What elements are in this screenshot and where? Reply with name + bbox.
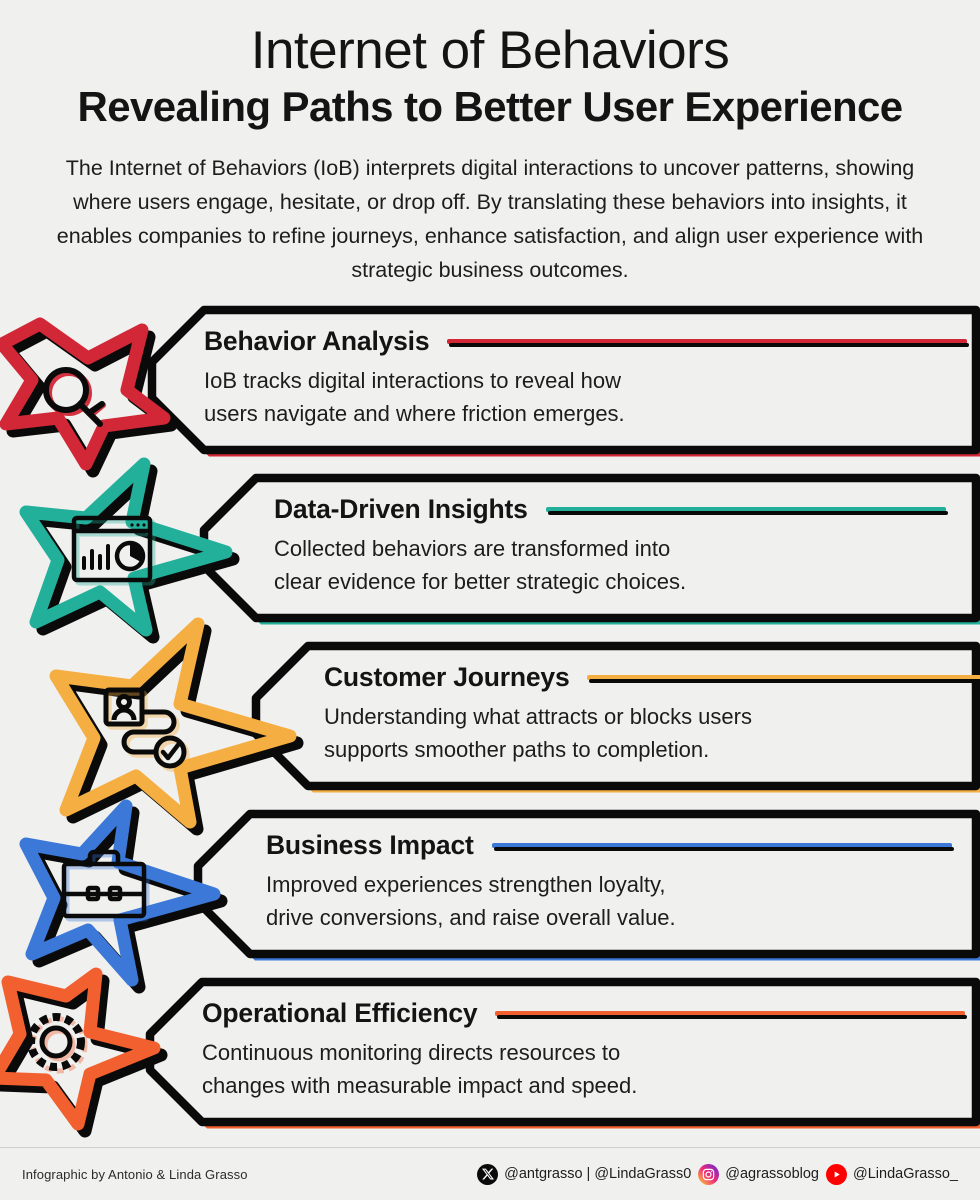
social-handle: @agrassoblog	[725, 1166, 819, 1182]
heading-rule	[495, 1011, 965, 1016]
social-youtube[interactable]: @LindaGrasso_	[826, 1164, 958, 1185]
card-heading: Data-Driven Insights	[274, 494, 528, 525]
page-subtitle: Revealing Paths to Better User Experienc…	[30, 83, 950, 130]
heading-rule	[447, 339, 967, 344]
page-title: Internet of Behaviors	[30, 22, 950, 79]
social-handle: @LindaGrasso_	[853, 1166, 958, 1182]
x-twitter-icon[interactable]	[477, 1164, 498, 1185]
card-body: Improved experiences strengthen loyalty,…	[266, 868, 952, 935]
heading-rule	[587, 675, 980, 680]
card-body: Continuous monitoring directs resources …	[202, 1036, 965, 1103]
card-body: IoB tracks digital interactions to revea…	[204, 364, 967, 431]
credit-text: Infographic by Antonio & Linda Grasso	[22, 1167, 248, 1182]
card-text: Operational Efficiency Continuous monito…	[202, 998, 965, 1103]
card-text: Data-Driven Insights Collected behaviors…	[274, 494, 946, 599]
card-text: Behavior Analysis IoB tracks digital int…	[204, 326, 967, 431]
card-heading-row: Data-Driven Insights	[274, 494, 946, 525]
card-heading-row: Behavior Analysis	[204, 326, 967, 357]
briefcase-icon	[64, 852, 147, 919]
infographic-page: Internet of Behaviors Revealing Paths to…	[0, 0, 980, 1200]
card-heading: Operational Efficiency	[202, 998, 477, 1029]
card-heading-row: Operational Efficiency	[202, 998, 965, 1029]
heading-rule	[492, 843, 952, 848]
social-handle: @antgrasso | @LindaGrass0	[504, 1166, 691, 1182]
card-text: Business Impact Improved experiences str…	[266, 830, 952, 935]
social-x[interactable]: @antgrasso | @LindaGrass0	[477, 1164, 691, 1185]
star-badge	[0, 306, 172, 471]
instagram-icon[interactable]	[698, 1164, 719, 1185]
youtube-icon[interactable]	[826, 1164, 847, 1185]
card-heading: Behavior Analysis	[204, 326, 429, 357]
social-instagram[interactable]: @agrassoblog	[698, 1164, 819, 1185]
list-item: Behavior Analysis IoB tracks digital int…	[0, 300, 980, 475]
card-body: Collected behaviors are transformed into…	[274, 532, 946, 599]
card-body: Understanding what attracts or blocks us…	[324, 700, 980, 767]
list-item: Business Impact Improved experiences str…	[0, 804, 980, 979]
gear-icon	[31, 1017, 85, 1071]
content-rows: Behavior Analysis IoB tracks digital int…	[0, 300, 980, 1150]
list-item: Customer Journeys Understanding what att…	[0, 636, 980, 811]
star-badge	[0, 972, 171, 1132]
card-heading: Business Impact	[266, 830, 474, 861]
list-item: Operational Efficiency Continuous monito…	[0, 972, 980, 1147]
card-text: Customer Journeys Understanding what att…	[324, 662, 980, 767]
social-links: @antgrasso | @LindaGrass0 @agrassoblog	[477, 1164, 958, 1185]
star-badge	[14, 794, 234, 984]
card-heading-row: Customer Journeys	[324, 662, 980, 693]
footer: Infographic by Antonio & Linda Grasso @a…	[0, 1148, 980, 1200]
header: Internet of Behaviors Revealing Paths to…	[0, 0, 980, 288]
heading-rule	[546, 507, 946, 512]
intro-paragraph: The Internet of Behaviors (IoB) interpre…	[50, 152, 930, 288]
card-heading: Customer Journeys	[324, 662, 569, 693]
card-heading-row: Business Impact	[266, 830, 952, 861]
